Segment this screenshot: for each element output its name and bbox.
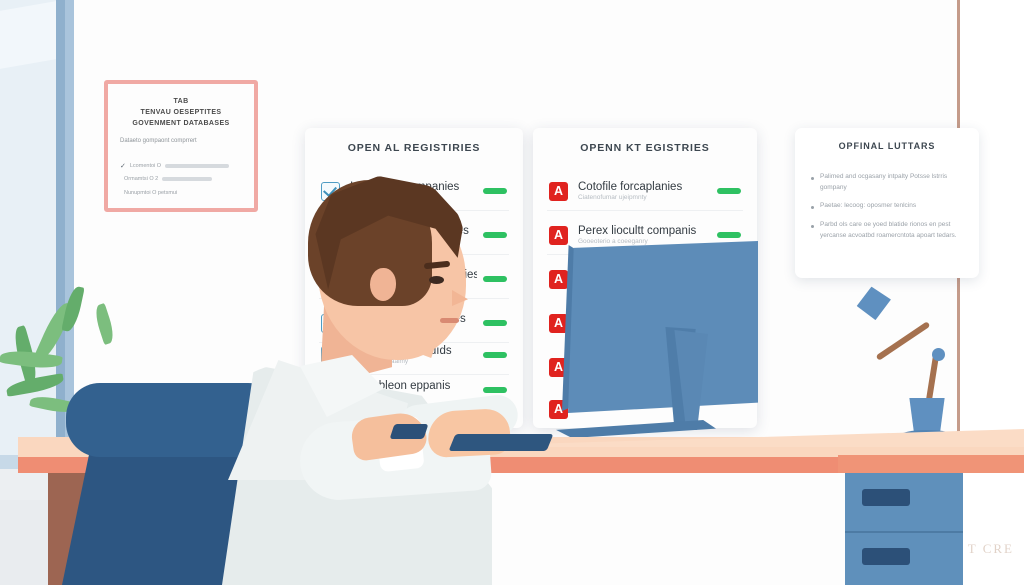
poster-row: Ormamtsi O 2 <box>120 176 212 182</box>
bullet-dot-icon <box>811 225 814 228</box>
poster-title-line-2: TENVAU OESEPTITES <box>108 107 254 118</box>
alert-item-title: Cotofile forcaplanies <box>578 181 711 193</box>
green-status-pill-icon <box>483 387 507 393</box>
poster-row-label: Ormamtsi O 2 <box>124 176 158 182</box>
alert-item-subtitle: Ciatenofumar ujeipmnty <box>578 194 711 201</box>
poster-row: ✓ Lcomentoi O <box>120 162 229 170</box>
drawer-handle-bottom[interactable] <box>862 548 910 565</box>
info-bullet-text: Parbd ols care oe yoed blatide rionos en… <box>820 220 965 241</box>
monitor-back-panel <box>568 241 758 413</box>
poster-check-icon: ✓ <box>120 162 126 170</box>
poster-subtitle: Dataeto gompaont comprrert <box>120 138 197 144</box>
red-a-badge-icon: A <box>549 314 568 333</box>
drawer-handle-top[interactable] <box>862 489 910 506</box>
info-bullet: Paetae: lecoog: oposmer tenlcins <box>811 201 965 212</box>
info-bullet: Parbd ols care oe yoed blatide rionos en… <box>811 220 965 241</box>
poster-row-label: Nunupmtoi O petsmui <box>124 190 177 196</box>
window-glass-highlight <box>0 1 56 69</box>
bullet-dot-icon <box>811 177 814 180</box>
alert-list-item[interactable]: A Cotofile forcaplanies Ciatenofumar uje… <box>533 172 757 210</box>
red-a-badge-icon: A <box>549 270 568 289</box>
keyboard-left-segment[interactable] <box>390 424 429 439</box>
green-status-pill-icon <box>483 320 507 326</box>
optional-criteria-card-title: OPFINAL LUTTARS <box>795 141 979 151</box>
green-status-pill-icon <box>483 352 507 358</box>
person-eye <box>429 276 444 284</box>
desk-front-edge-right <box>838 455 1024 473</box>
red-a-badge-icon: A <box>549 226 568 245</box>
green-status-pill-icon <box>483 276 507 282</box>
poster-row: Nunupmtoi O petsmui <box>120 190 177 196</box>
person-lips <box>440 318 459 323</box>
info-bullet-text: Paetae: lecoog: oposmer tenlcins <box>820 201 916 212</box>
list-divider <box>547 210 743 211</box>
watermark: T CRE <box>968 541 1014 557</box>
green-status-pill-icon <box>717 232 741 238</box>
red-a-badge-icon: A <box>549 182 568 201</box>
poster-title-line-1: TAB <box>108 96 254 107</box>
poster-title-line-3: GOVENMENT DATABASES <box>108 118 254 129</box>
poster-row-label: Lcomentoi O <box>130 163 161 169</box>
poster-placeholder-bar <box>165 164 229 168</box>
drawer-divider <box>845 531 963 533</box>
info-bullet-text: Palimed and ocgasany intpalty Potsse lst… <box>820 172 965 193</box>
alert-registries-card-title: OPENN KT EGISTRIES <box>533 142 757 154</box>
open-registries-card-title: OPEN AL REGISTIRIES <box>305 142 523 154</box>
info-bullet: Palimed and ocgasany intpalty Potsse lst… <box>811 172 965 193</box>
wall-poster: TAB TENVAU OESEPTITES GOVENMENT DATABASE… <box>104 80 258 212</box>
wall-right-panel <box>960 0 1024 585</box>
alert-item-title: Perex liocultt companis <box>578 225 711 237</box>
keyboard[interactable] <box>449 434 554 451</box>
optional-criteria-card[interactable]: OPFINAL LUTTARS Palimed and ocgasany int… <box>795 128 979 278</box>
poster-placeholder-bar <box>162 177 212 181</box>
bullet-dot-icon <box>811 206 814 209</box>
office-scene: TAB TENVAU OESEPTITES GOVENMENT DATABASE… <box>0 0 1024 585</box>
green-status-pill-icon <box>483 188 507 194</box>
green-status-pill-icon <box>717 188 741 194</box>
green-status-pill-icon <box>483 232 507 238</box>
lamp-joint <box>932 348 945 361</box>
person-ear <box>370 268 396 301</box>
